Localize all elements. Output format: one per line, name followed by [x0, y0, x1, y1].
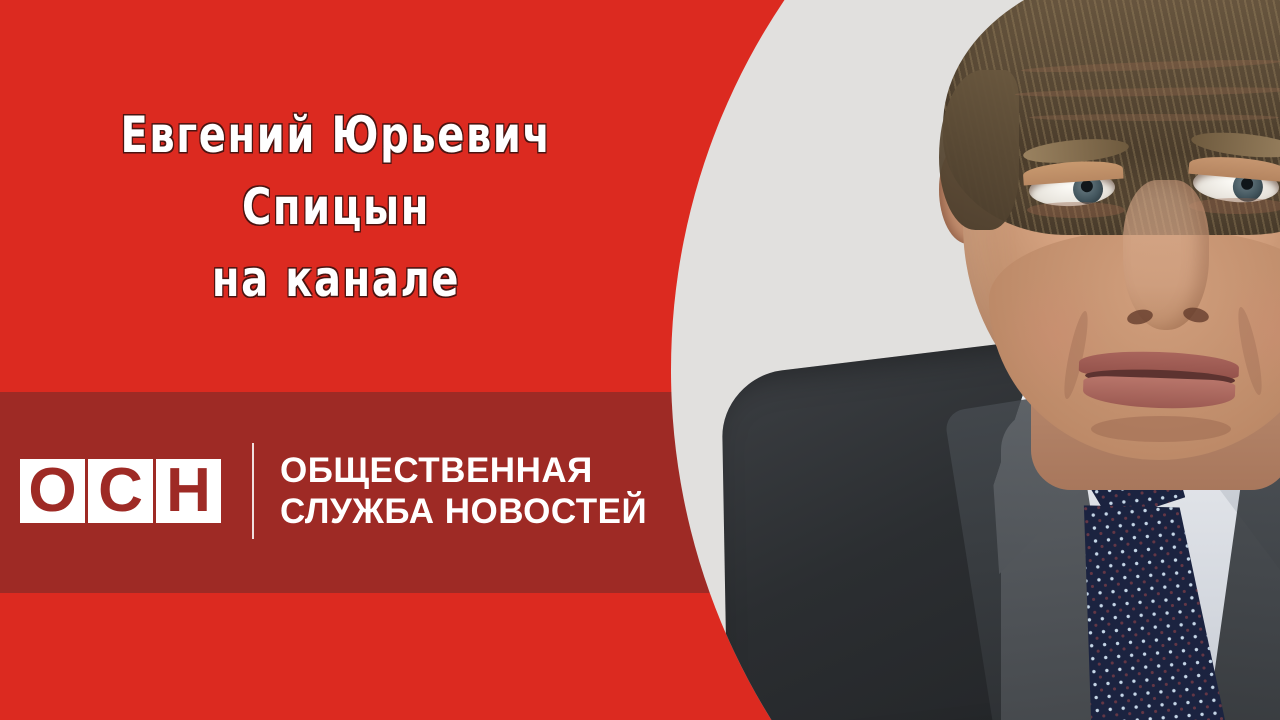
title-line-1: Евгений Юрьевич: [67, 110, 605, 160]
under-eye-left: [1027, 202, 1125, 218]
forehead-wrinkle: [1029, 114, 1279, 121]
thumbnail-canvas: Евгений Юрьевич Спицын на канале О С Н О…: [0, 0, 1280, 720]
chin-shadow: [1091, 416, 1231, 442]
logo-letter-n: Н: [156, 459, 221, 523]
osn-logo-mark: О С Н: [20, 459, 221, 523]
brand-logo: О С Н ОБЩЕСТВЕННАЯ СЛУЖБА НОВОСТЕЙ: [20, 443, 647, 539]
logo-letter-o: О: [20, 459, 85, 523]
title-line-2: Спицын: [67, 182, 605, 232]
logo-divider: [252, 443, 254, 539]
brand-name-line-2: СЛУЖБА НОВОСТЕЙ: [280, 491, 647, 532]
title-line-3: на канале: [67, 254, 605, 304]
title-block: Евгений Юрьевич Спицын на канале: [0, 110, 672, 304]
portrait-circle: [671, 0, 1280, 720]
brand-name: ОБЩЕСТВЕННАЯ СЛУЖБА НОВОСТЕЙ: [280, 450, 647, 533]
portrait-photo: [671, 0, 1280, 720]
logo-letter-s: С: [88, 459, 153, 523]
brand-name-line-1: ОБЩЕСТВЕННАЯ: [280, 450, 647, 491]
